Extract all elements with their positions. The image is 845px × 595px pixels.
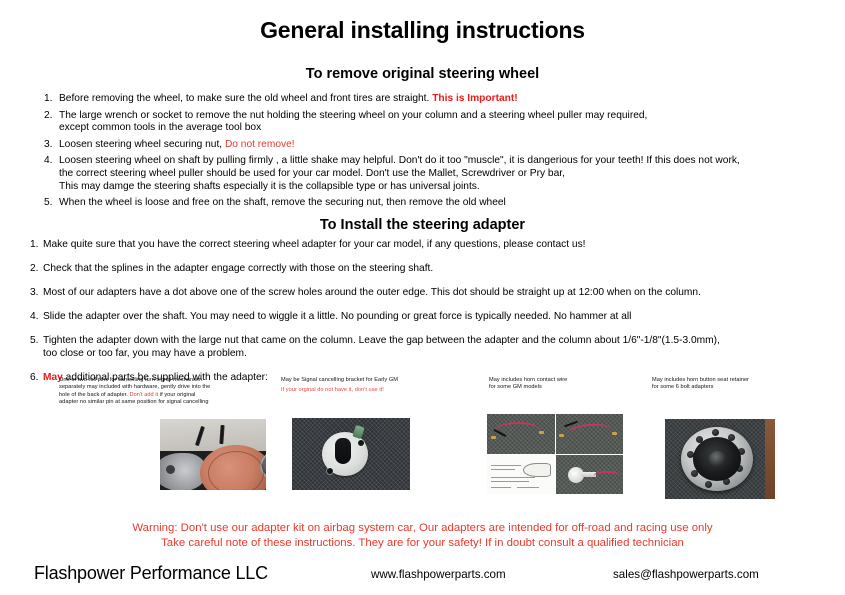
list-item-line: The large wrench or socket to remove the… [59,110,834,123]
list-item-number: 5. [44,197,59,210]
list-item-number: 3. [44,139,59,152]
list-item-line: too close or too far, you may have a pro… [43,348,830,361]
caption-warning-line: If your orginal do not have it, don't us… [281,387,481,394]
list-item-line: Loosen steering wheel securing nut, [59,139,225,150]
part-roll-pins: One or two roll pins for cancelling turn… [59,377,279,406]
footer: Flashpower Performance LLC www.flashpowe… [0,563,845,595]
part-horn-contact-wire: May includes horn contact wire for some … [489,377,649,392]
install-steps-list: 1. Make quite sure that you have the cor… [30,239,830,396]
collage-cell-wire-1 [487,414,555,454]
part-horn-button-seat-retainer: May includes horn button seat retainer f… [652,377,832,392]
list-item-body: The large wrench or socket to remove the… [59,110,834,135]
list-item-body: Make quite sure that you have the correc… [43,239,830,252]
company-name: Flashpower Performance LLC [34,563,268,584]
caption-line: May be Signal cancelling bracket for Ear… [281,377,481,384]
part-caption: May includes horn button seat retainer f… [652,377,832,392]
list-item-line: Make quite sure that you have the correc… [43,239,586,250]
terminal-icon [612,432,617,435]
collage-cell-wire-2 [556,414,624,454]
page-title: General installing instructions [0,17,845,44]
diagram-text-line [491,465,521,466]
section-heading-install: To Install the steering adapter [0,217,845,233]
caption-text: if your original [158,392,195,398]
website-url[interactable]: www.flashpowerparts.com [371,568,506,581]
photo-bg-upper [160,419,266,451]
list-item-body: When the wheel is loose and free on the … [59,197,834,210]
horn-wire-icon [565,422,613,445]
list-item-number: 5. [30,335,43,348]
bolt-hole-icon [712,429,719,436]
warning-text: Warning: Don't use our adapter kit on ai… [0,521,845,550]
diagram-text-line [517,487,539,488]
caption-line: for some GM models [489,384,649,391]
list-item-number: 2. [30,263,43,276]
bolt-hole-icon [705,481,712,488]
list-item-number: 4. [30,311,43,324]
list-item: 1. Make quite sure that you have the cor… [30,239,830,252]
caption-line: May includes horn contact wire [489,377,649,384]
list-item: 5. When the wheel is loose and free on t… [44,197,834,210]
emphasis-important: This is Important! [432,93,517,104]
adapter-hub-icon [260,451,266,481]
list-item: 4. Loosen steering wheel on shaft by pul… [44,155,834,193]
photo-bg-lower [160,451,266,490]
hub-bore-icon [693,437,741,481]
list-item-body: Most of our adapters have a dot above on… [43,287,830,300]
list-item: 5. Tighten the adapter down with the lar… [30,335,830,360]
part-photo-wire-collage [487,414,623,494]
list-item-body: Before removing the wheel, to make sure … [59,93,834,106]
caption-line: hole of the back of adapter. Don't add i… [59,392,279,399]
caption-line: adapter no similar pin at same position … [59,399,279,406]
hub-spline-icon [709,451,726,467]
remove-steps-list: 1. Before removing the wheel, to make su… [44,93,834,214]
list-item: 2. The large wrench or socket to remove … [44,110,834,135]
part-caption: May includes horn contact wire for some … [489,377,649,392]
warning-line-1: Warning: Don't use our adapter kit on ai… [0,521,845,536]
part-photo-roll-pins [160,419,266,490]
terminal-icon [559,434,564,437]
list-item: 2. Check that the splines in the adapter… [30,263,830,276]
list-item-line: Before removing the wheel, to make sure … [59,93,432,104]
list-item-number: 1. [44,93,59,106]
part-photo-hub-adapter [665,419,775,499]
warning-line-2: Take careful note of these instructions.… [0,536,845,551]
terminal-icon [491,436,496,439]
list-item-line: Loosen steering wheel on shaft by pullin… [59,155,834,168]
list-item-number: 3. [30,287,43,300]
list-item-line: Most of our adapters have a dot above on… [43,287,701,298]
list-item-number: 1. [30,239,43,252]
diagram-text-line [491,469,515,470]
instruction-sheet: General installing instructions To remov… [0,0,845,595]
list-item-line: Tighten the adapter down with the large … [43,335,830,348]
adapter-ring-icon [200,445,266,490]
list-item: 3. Loosen steering wheel securing nut, D… [44,139,834,152]
hub-adapter-icon [681,427,753,491]
list-item-body: Slide the adapter over the shaft. You ma… [43,311,830,324]
roll-pin-icon [195,426,205,446]
list-item: 3. Most of our adapters have a dot above… [30,287,830,300]
diagram-text-line [491,481,529,482]
contact-email[interactable]: sales@flashpowerparts.com [613,568,759,581]
list-item: 1. Before removing the wheel, to make su… [44,93,834,106]
list-item-body: Loosen steering wheel securing nut, Do n… [59,139,834,152]
list-item-line: Slide the adapter over the shaft. You ma… [43,311,631,322]
list-item: 4. Slide the adapter over the shaft. You… [30,311,830,324]
bolt-hole-icon [358,440,364,446]
list-item-line: Check that the splines in the adapter en… [43,263,433,274]
caption-line: May includes horn button seat retainer [652,377,832,384]
horn-wire-icon [495,422,541,440]
list-item-line: This may damge the steering shafts espec… [59,181,834,194]
roll-pin-icon [219,425,224,444]
list-item-number: 4. [44,155,59,168]
optional-parts-gallery: One or two roll pins for cancelling turn… [0,377,845,512]
bracket-tab-icon [352,425,364,439]
list-item-line: When the wheel is loose and free on the … [59,197,506,208]
diagram-text-line [491,477,535,478]
bolt-hole-icon [327,468,333,474]
list-item-body: Check that the splines in the adapter en… [43,263,830,276]
caption-line: One or two roll pins for cancelling turn… [59,377,279,384]
caption-text: hole of the back of adapter. [59,392,130,398]
caption-line: separately may included with hardware, g… [59,384,279,391]
diagram-part-icon [523,463,551,477]
part-caption: One or two roll pins for cancelling turn… [59,377,279,406]
list-item-body: Tighten the adapter down with the large … [43,335,830,360]
collage-cell-horn-plug [556,455,624,495]
emphasis-do-not-remove: Do not remove! [225,139,295,150]
list-item-line: except common tools in the average tool … [59,122,834,135]
section-heading-remove: To remove original steering wheel [0,66,845,82]
terminal-icon [539,431,544,434]
list-item-body: Loosen steering wheel on shaft by pullin… [59,155,834,193]
part-photo-bracket [292,418,410,490]
horn-wire-icon [594,471,620,483]
part-caption: May be Signal cancelling bracket for Ear… [281,377,481,395]
caption-line: for some 6 bolt adapters [652,384,832,391]
list-item-line: the correct steering wheel puller should… [59,168,834,181]
part-signal-cancelling-bracket: May be Signal cancelling bracket for Ear… [281,377,481,395]
collage-cell-diagram [487,455,555,495]
list-item-number: 2. [44,110,59,123]
diagram-text-line [491,487,511,488]
emphasis-dont-add-it: Don't add it [130,392,159,398]
